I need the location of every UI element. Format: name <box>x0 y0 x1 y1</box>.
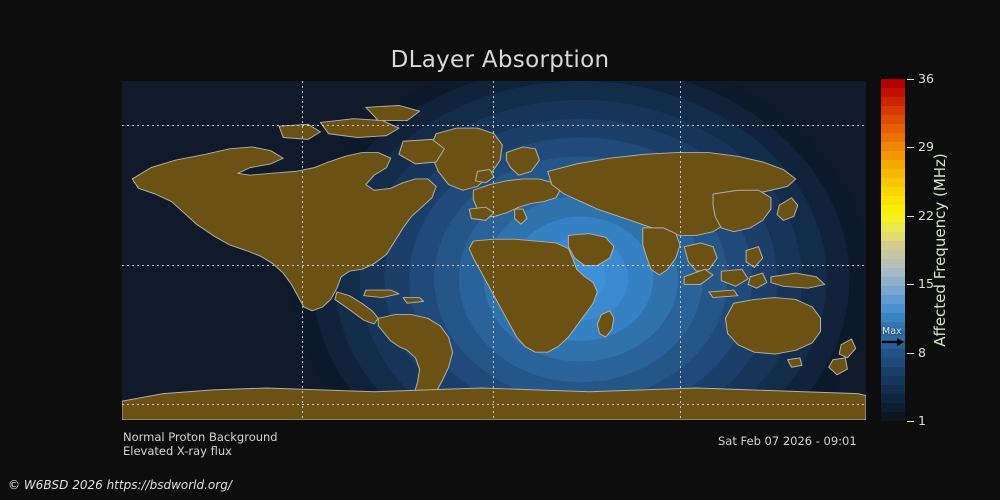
colorbar[interactable]: Max 1815222936 <box>881 79 905 421</box>
colorbar-segment <box>881 241 905 250</box>
page-title: DLayer Absorption <box>0 47 1000 73</box>
colorbar-tick <box>907 79 914 80</box>
colorbar-segment <box>881 295 905 304</box>
status-line-xray: Elevated X-ray flux <box>123 444 278 458</box>
land-australia <box>725 298 820 355</box>
land-java <box>709 290 738 298</box>
colorbar-tick <box>907 216 914 217</box>
colorbar-segment <box>881 115 905 124</box>
colorbar-segment <box>881 79 905 88</box>
colorbar-segment <box>881 142 905 151</box>
colorbar-axis-label: Affected Frequency (MHz) <box>930 79 950 421</box>
colorbar-segment <box>881 322 905 331</box>
colorbar-segment <box>881 133 905 142</box>
colorbar-segment <box>881 223 905 232</box>
colorbar-segment <box>881 340 905 349</box>
colorbar-tick <box>907 147 914 148</box>
colorbar-segment <box>881 394 905 403</box>
colorbar-segment <box>881 304 905 313</box>
colorbar-segment <box>881 214 905 223</box>
colorbar-tick <box>907 353 914 354</box>
colorbar-segment <box>881 106 905 115</box>
timestamp-label: Sat Feb 07 2026 - 09:01 <box>718 434 857 448</box>
colorbar-segment <box>881 232 905 241</box>
map-canvas <box>122 81 866 420</box>
colorbar-segment <box>881 160 905 169</box>
dlayer-absorption-figure: DLayer Absorption <box>0 0 1000 500</box>
colorbar-segment <box>881 88 905 97</box>
colorbar-segment <box>881 331 905 340</box>
colorbar-segment <box>881 178 905 187</box>
colorbar-segment <box>881 358 905 367</box>
status-annotations: Normal Proton Background Elevated X-ray … <box>123 430 278 458</box>
colorbar-segment <box>881 367 905 376</box>
colorbar-segment <box>881 313 905 322</box>
colorbar-segment <box>881 286 905 295</box>
colorbar-segment <box>881 268 905 277</box>
colorbar-segment <box>881 187 905 196</box>
colorbar-segment <box>881 250 905 259</box>
colorbar-segment <box>881 277 905 286</box>
colorbar-segment <box>881 376 905 385</box>
colorbar-tick <box>907 284 914 285</box>
colorbar-segment <box>881 169 905 178</box>
colorbar-segment <box>881 412 905 421</box>
colorbar-axis-label-text: Affected Frequency (MHz) <box>931 153 949 347</box>
colorbar-segment <box>881 124 905 133</box>
colorbar-segment <box>881 196 905 205</box>
colorbar-tick-label: 1 <box>918 415 926 428</box>
colorbar-segment <box>881 349 905 358</box>
status-line-proton: Normal Proton Background <box>123 430 278 444</box>
world-map-axes[interactable] <box>122 81 866 420</box>
colorbar-tick <box>907 421 914 422</box>
credit-label: © W6BSD 2026 https://bsdworld.org/ <box>8 478 232 492</box>
colorbar-segment <box>881 97 905 106</box>
colorbar-segment <box>881 205 905 214</box>
colorbar-tick-label: 8 <box>918 346 926 359</box>
colorbar-gradient <box>881 79 905 421</box>
colorbar-segment <box>881 259 905 268</box>
colorbar-segment <box>881 151 905 160</box>
colorbar-segment <box>881 403 905 412</box>
land-antarctica <box>122 388 866 420</box>
colorbar-segment <box>881 385 905 394</box>
